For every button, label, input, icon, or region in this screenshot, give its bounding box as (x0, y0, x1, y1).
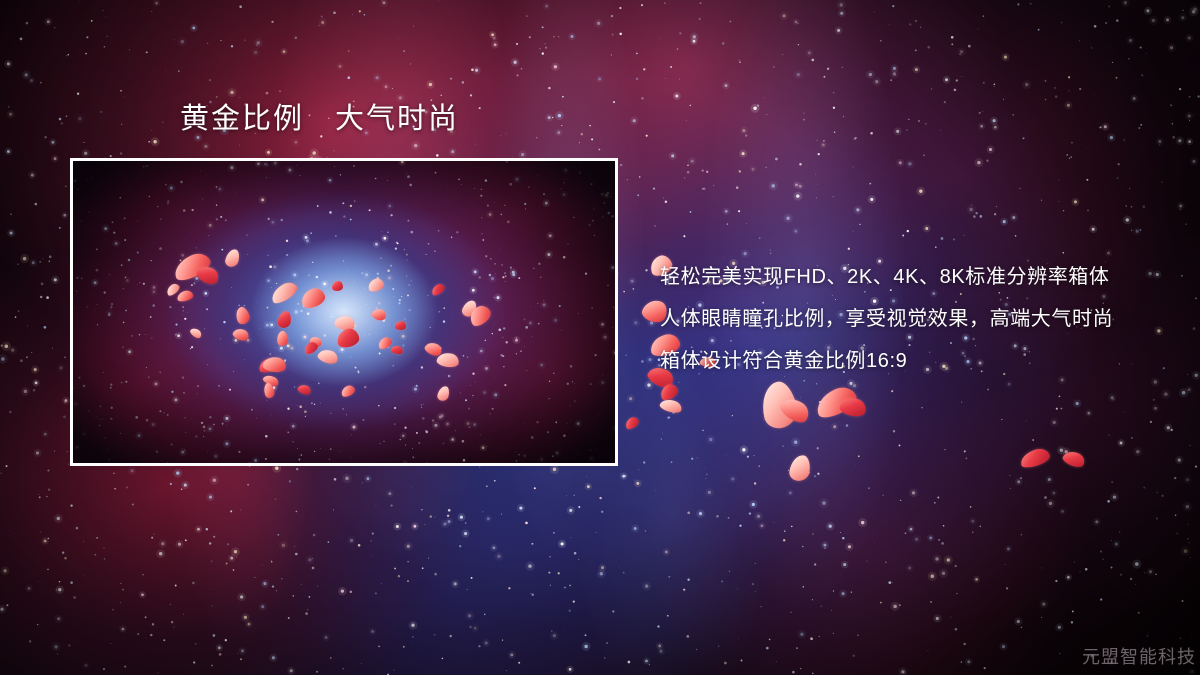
petal (658, 382, 680, 402)
framed-image (70, 158, 618, 466)
petal (623, 415, 640, 431)
nebula-vignette (73, 161, 615, 463)
petal (788, 454, 811, 483)
petal (659, 397, 684, 415)
petal (758, 379, 801, 431)
petal (777, 393, 813, 427)
body-line-1: 轻松完美实现FHD、2K、4K、8K标准分辨率箱体 (660, 256, 1180, 298)
petal (1018, 446, 1051, 470)
body-text-block: 轻松完美实现FHD、2K、4K、8K标准分辨率箱体 人体眼睛瞳孔比例，享受视觉效… (660, 256, 1180, 382)
petal (812, 382, 860, 421)
petal (1061, 448, 1087, 470)
body-line-2: 人体眼睛瞳孔比例，享受视觉效果，高端大气时尚 (660, 298, 1180, 340)
petal (838, 395, 868, 419)
body-line-3: 箱体设计符合黄金比例16:9 (660, 340, 1180, 382)
presentation-slide: 黄金比例 大气时尚 轻松完美实现FHD、2K、4K、8K标准分辨率箱体 人体眼睛… (0, 0, 1200, 675)
watermark-label: 元盟智能科技 (1082, 643, 1196, 669)
page-title: 黄金比例 大气时尚 (180, 102, 459, 136)
